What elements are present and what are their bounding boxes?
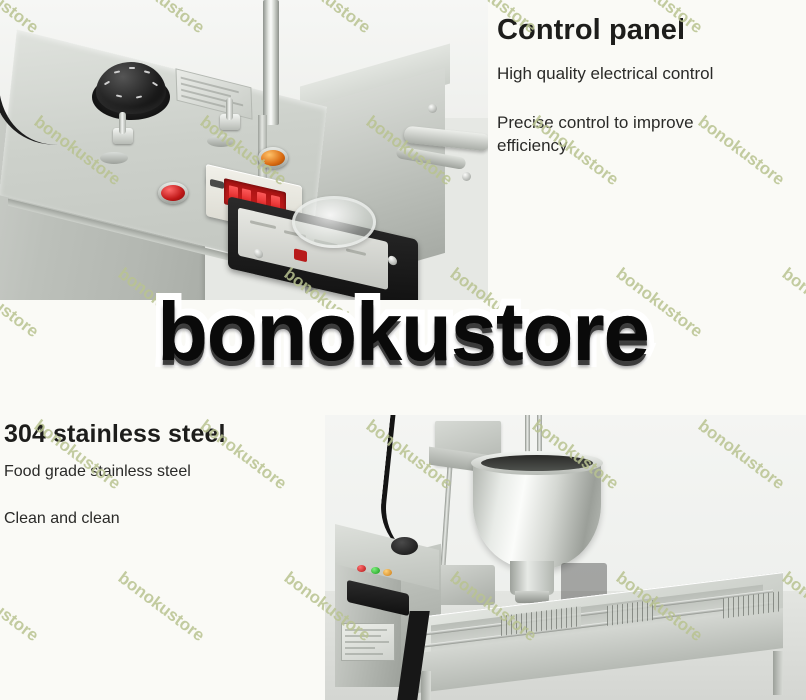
center-watermark: bonokustore bonokustore bbox=[157, 290, 649, 373]
toggle-switch-mid-lever[interactable] bbox=[226, 98, 233, 120]
tray-label-line bbox=[250, 220, 276, 229]
knob-tick-icon bbox=[152, 82, 158, 87]
stainless-steel-line-2: Clean and clean bbox=[4, 508, 319, 530]
pilot-lamp-orange bbox=[258, 147, 288, 169]
donut-machine-full-photo bbox=[325, 415, 806, 700]
center-watermark-text-fill: bonokustore bbox=[157, 290, 649, 373]
control-panel-line-2b: efficiency bbox=[497, 136, 568, 155]
label-text-line bbox=[345, 629, 387, 631]
machine-rating-label bbox=[341, 623, 395, 661]
screw-icon bbox=[462, 172, 471, 181]
machine-leg bbox=[421, 671, 431, 700]
gearbox-housing bbox=[433, 565, 495, 605]
toggle-switch-left-lever[interactable] bbox=[119, 112, 126, 134]
knob-tick-icon bbox=[116, 94, 122, 97]
toggle-switch-mid-ring bbox=[207, 135, 235, 147]
tray-label-line bbox=[346, 248, 366, 256]
knob-tick-icon bbox=[104, 81, 110, 86]
stainless-steel-heading: 304 stainless steel bbox=[4, 420, 319, 449]
product-detail-image: bonokustorebonokustorebonokustorebonokus… bbox=[0, 0, 806, 700]
hopper-neck bbox=[510, 561, 554, 595]
tray-red-button[interactable] bbox=[294, 248, 307, 262]
control-panel-closeup-photo bbox=[0, 0, 488, 300]
label-text-line bbox=[345, 647, 375, 649]
pilot-lamp-red bbox=[357, 565, 366, 572]
control-panel-heading: Control panel bbox=[497, 14, 797, 47]
knob-tick-icon bbox=[144, 70, 150, 73]
knob-tick-icon bbox=[129, 67, 135, 69]
display-slot bbox=[210, 179, 224, 189]
hopper-opening bbox=[481, 455, 593, 471]
watermark-text: bonokustore bbox=[0, 568, 42, 646]
label-text-line bbox=[345, 653, 383, 655]
machine-leg bbox=[773, 651, 783, 695]
control-knob[interactable] bbox=[391, 537, 418, 555]
control-panel-line-2a: Precise control to improve bbox=[497, 113, 694, 132]
label-text-line bbox=[345, 641, 389, 643]
knob-tick-icon bbox=[114, 70, 120, 73]
lamp-glass bbox=[161, 185, 185, 201]
power-cable bbox=[0, 0, 73, 148]
temperature-knob bbox=[96, 62, 166, 114]
clear-donut-mold-bowl bbox=[292, 196, 376, 248]
screw-icon bbox=[428, 104, 437, 113]
toggle-switch-left-ring bbox=[100, 152, 128, 164]
watermark-text: bonokustore bbox=[778, 264, 806, 342]
control-panel-line-2: Precise control to improve efficiency bbox=[497, 112, 797, 158]
pilot-lamp-green bbox=[371, 567, 380, 574]
lamp-glass bbox=[261, 150, 285, 166]
pilot-lamp-orange bbox=[383, 569, 392, 576]
knob-tick-icon bbox=[136, 95, 142, 98]
pilot-lamp-red bbox=[158, 182, 188, 204]
stainless-steel-line-1: Food grade stainless steel bbox=[4, 461, 319, 483]
control-panel-line-1: High quality electrical control bbox=[497, 63, 797, 86]
stainless-steel-text-block: 304 stainless steel Food grade stainless… bbox=[4, 420, 319, 556]
screw-icon bbox=[388, 255, 397, 266]
watermark-text: bonokustore bbox=[114, 568, 208, 646]
chrome-column bbox=[263, 0, 279, 125]
control-panel-text-block: Control panel High quality electrical co… bbox=[497, 14, 797, 158]
label-text-line bbox=[345, 635, 381, 637]
